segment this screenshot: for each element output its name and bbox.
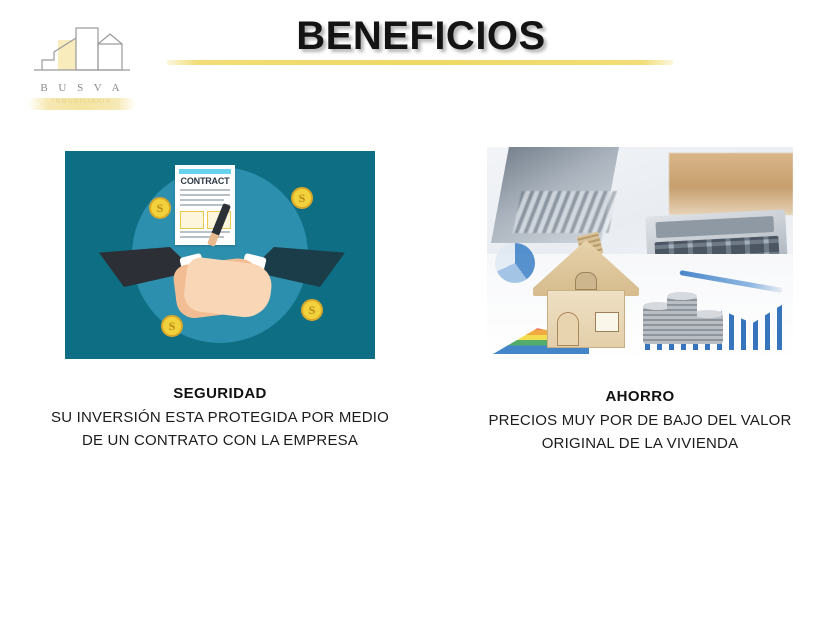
photo-background bbox=[487, 147, 793, 362]
contract-text-line bbox=[180, 199, 224, 201]
calculator-screen bbox=[655, 216, 774, 238]
house-door bbox=[557, 312, 579, 346]
dollar-coin-icon: S bbox=[149, 197, 171, 219]
benefit-title: AHORRO bbox=[460, 386, 820, 408]
model-house-coins-photo bbox=[487, 147, 793, 362]
dollar-coin-icon: S bbox=[301, 299, 323, 321]
contract-text-line bbox=[180, 194, 230, 196]
coin-stacks bbox=[643, 286, 723, 344]
wooden-model-house bbox=[533, 238, 639, 348]
dollar-coin-icon: S bbox=[161, 315, 183, 337]
house-attic-window bbox=[575, 272, 597, 290]
benefit-caption: SEGURIDAD SU INVERSIÓN ESTA PROTEGIDA PO… bbox=[40, 383, 400, 452]
benefit-description: PRECIOS MUY POR DE BAJO DEL VALOR ORIGIN… bbox=[460, 409, 820, 455]
handshake-contract-illustration: CONTRACT S S bbox=[65, 151, 375, 359]
laptop-keyboard bbox=[513, 191, 618, 233]
benefit-column-ahorro: AHORRO PRECIOS MUY POR DE BAJO DEL VALOR… bbox=[460, 147, 820, 455]
benefit-column-seguridad: CONTRACT S S bbox=[40, 147, 400, 452]
contract-text-line bbox=[180, 189, 230, 191]
contract-text-line bbox=[180, 231, 230, 233]
contract-highlight-box bbox=[180, 211, 204, 229]
logo-wordmark: B U S V A bbox=[24, 82, 140, 94]
benefit-description: SU INVERSIÓN ESTA PROTEGIDA POR MEDIO DE… bbox=[40, 406, 400, 452]
wooden-board bbox=[669, 153, 793, 215]
title-underline-rule bbox=[167, 60, 673, 65]
right-hand bbox=[182, 256, 274, 320]
house-window bbox=[595, 312, 619, 332]
benefit-caption: AHORRO PRECIOS MUY POR DE BAJO DEL VALOR… bbox=[460, 386, 820, 455]
illustration-background: CONTRACT S S bbox=[65, 151, 375, 359]
company-logo: B U S V A INMOBILIARIA bbox=[24, 26, 140, 108]
coin-stack bbox=[667, 296, 697, 344]
page-title: BENEFICIOS bbox=[168, 14, 674, 59]
pie-chart-graphic bbox=[495, 243, 535, 283]
contract-header-bar bbox=[179, 169, 231, 174]
benefit-title: SEGURIDAD bbox=[40, 383, 400, 405]
logo-tagline: INMOBILIARIA bbox=[24, 99, 140, 105]
contract-title: CONTRACT bbox=[175, 176, 235, 186]
building-outline-icon bbox=[24, 26, 140, 84]
dollar-coin-icon: S bbox=[291, 187, 313, 209]
coin-stack bbox=[693, 314, 723, 344]
slide-canvas: B U S V A INMOBILIARIA BENEFICIOS CONTRA… bbox=[0, 0, 840, 630]
